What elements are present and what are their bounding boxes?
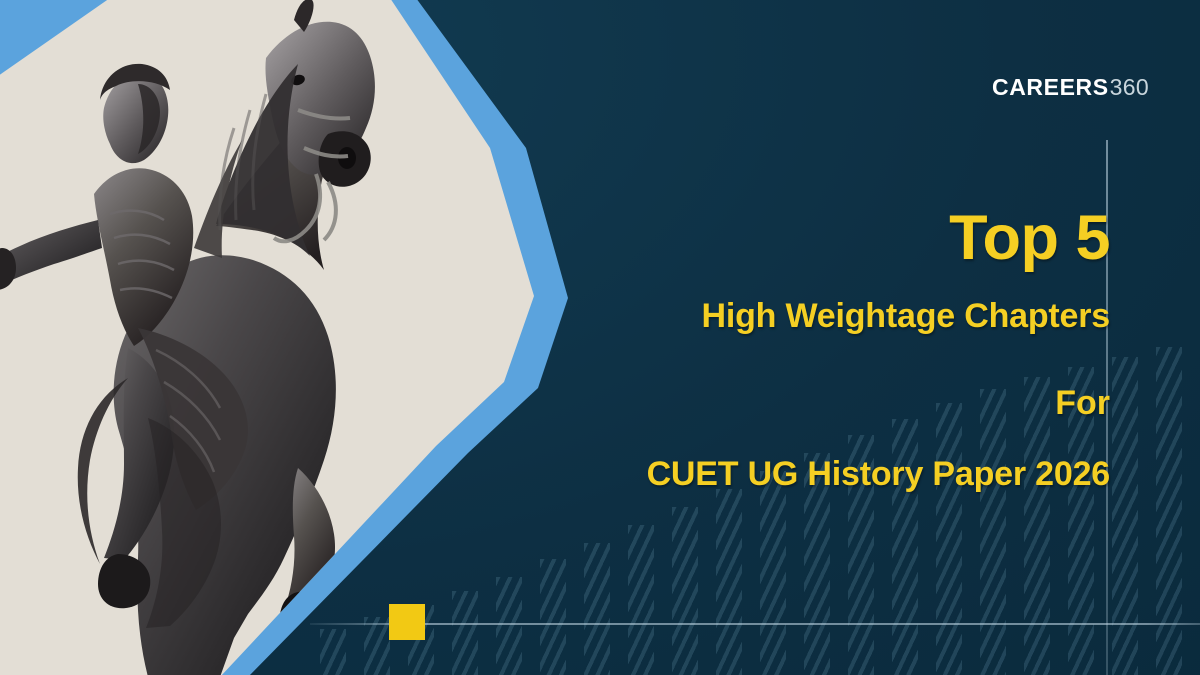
pattern-bar bbox=[672, 507, 698, 675]
headline-block: Top 5 High Weightage Chapters For CUET U… bbox=[570, 205, 1110, 494]
headline-line-top5: Top 5 bbox=[570, 205, 1110, 271]
logo-text-360: 360 bbox=[1110, 74, 1149, 101]
pattern-bar bbox=[364, 617, 390, 675]
pattern-bar bbox=[1112, 357, 1138, 675]
pattern-bar bbox=[320, 629, 346, 675]
headline-line-subject: High Weightage Chapters bbox=[570, 297, 1110, 336]
headline-line-exam: CUET UG History Paper 2026 bbox=[570, 455, 1110, 494]
horizontal-guide-line bbox=[310, 623, 1200, 625]
pattern-bar bbox=[496, 577, 522, 675]
pattern-bar bbox=[540, 559, 566, 675]
pattern-bar bbox=[628, 525, 654, 675]
pattern-bar bbox=[584, 543, 610, 675]
pattern-bar bbox=[452, 591, 478, 675]
headline-line-for: For bbox=[570, 384, 1110, 423]
pattern-bar bbox=[760, 471, 786, 675]
careers360-logo[interactable]: CAREERS 360 bbox=[992, 74, 1149, 101]
yellow-square-accent bbox=[389, 604, 425, 640]
pattern-bar bbox=[1156, 347, 1182, 675]
poster-canvas: CAREERS 360 Top 5 High Weightage Chapter… bbox=[0, 0, 1200, 675]
logo-text-careers: CAREERS bbox=[992, 74, 1109, 101]
pattern-bar bbox=[716, 489, 742, 675]
